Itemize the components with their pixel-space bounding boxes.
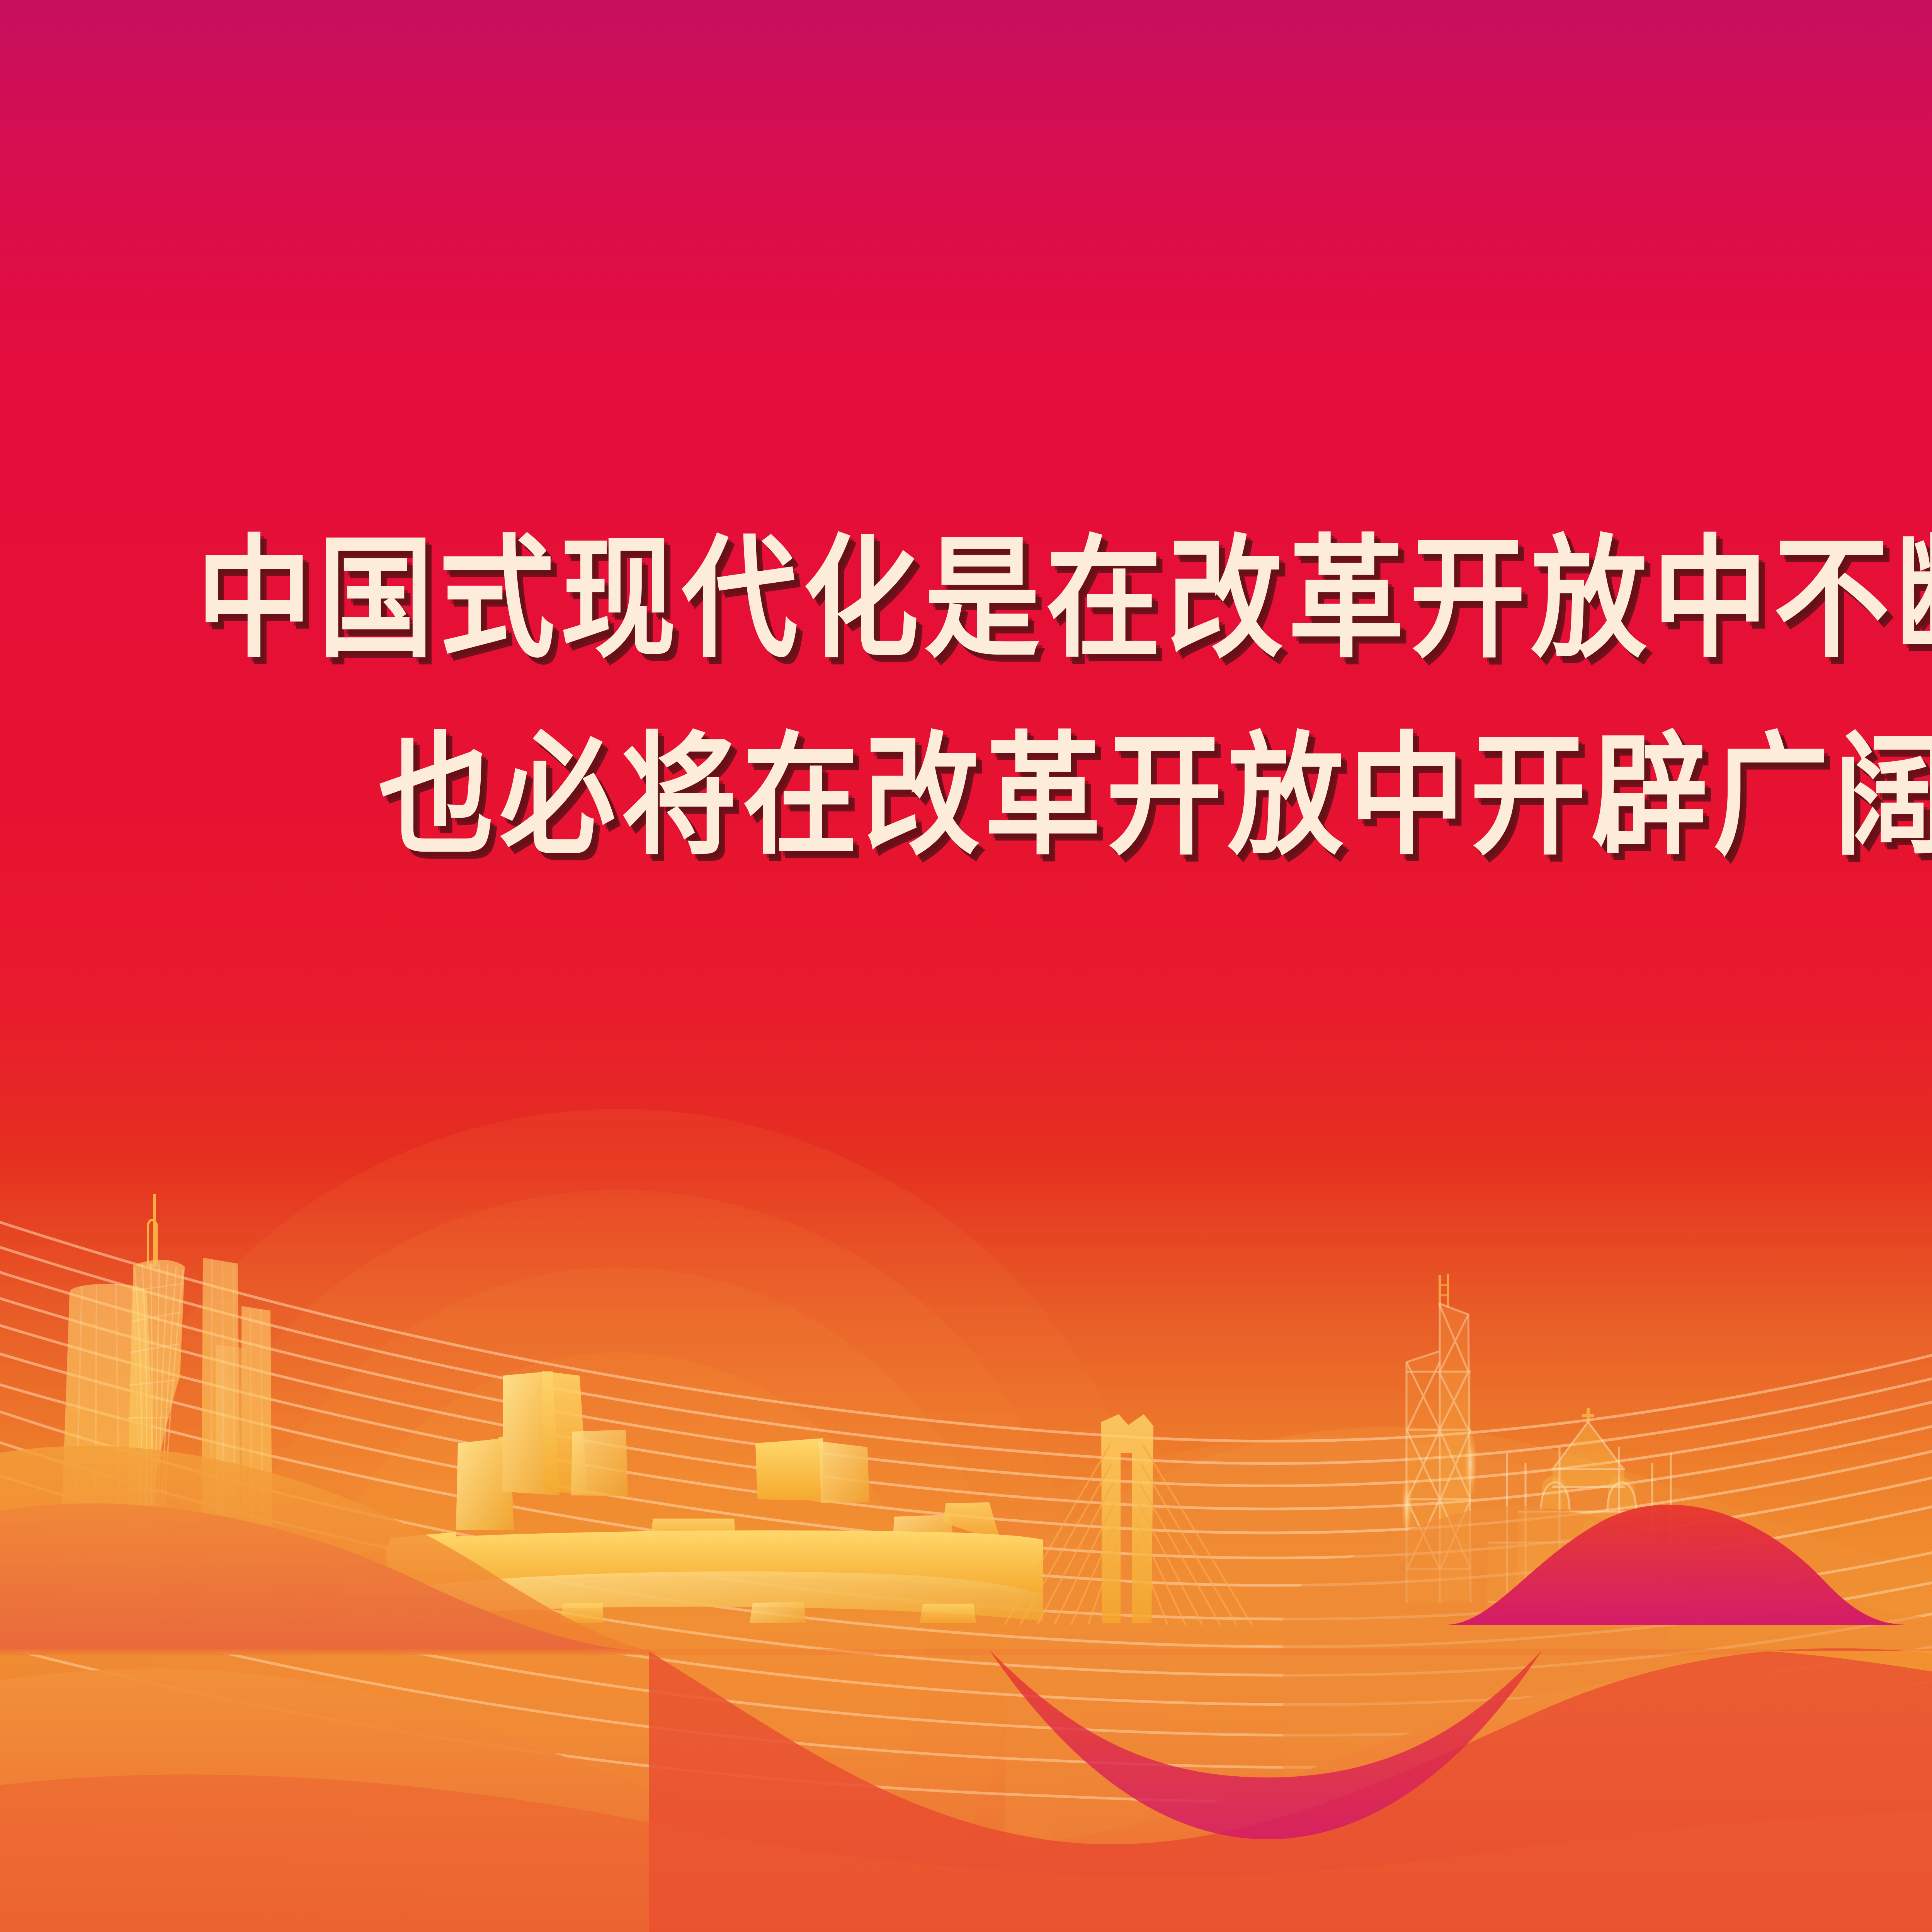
horizon-band [0,1649,1932,1655]
background-illustration [0,0,1932,1932]
poster-canvas: 中国式现代化是在改革开放中不断推进的 也必将在改革开放中开辟广阔前景 [0,0,1932,1932]
